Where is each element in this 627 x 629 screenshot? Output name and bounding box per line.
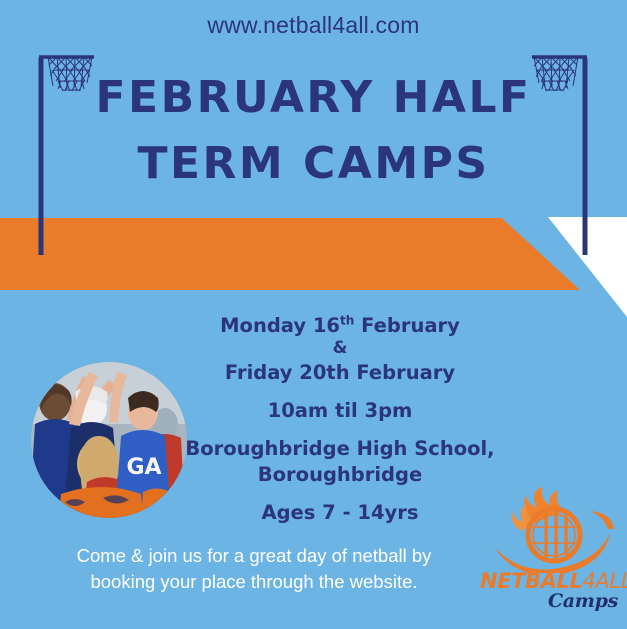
detail-ages: Ages 7 - 14yrs <box>150 500 530 525</box>
blurb-line1: Come & join us for a great day of netbal… <box>44 543 464 569</box>
logo-subtitle: Camps <box>548 590 618 612</box>
page-title-line1: FEBRUARY HALF <box>0 76 627 120</box>
event-details: Monday 16th February & Friday 20th Febru… <box>150 313 530 525</box>
detail-date-1: Monday 16th February <box>150 313 530 338</box>
page-title-line2: TERM CAMPS <box>0 142 627 186</box>
website-url[interactable]: www.netball4all.com <box>0 12 627 39</box>
detail-date-2: Friday 20th February <box>150 360 530 385</box>
netball4all-logo[interactable]: NETBALL4ALL Camps <box>480 487 622 619</box>
detail-date-1-ordinal: th <box>340 314 354 328</box>
detail-date-1-month: February <box>354 314 460 337</box>
flaming-netball-icon <box>488 487 614 573</box>
blurb-line2: booking your place through the website. <box>44 569 464 595</box>
call-to-action-text: Come & join us for a great day of netbal… <box>44 543 464 595</box>
detail-venue-line2: Boroughbridge <box>150 462 530 487</box>
detail-time: 10am til 3pm <box>150 398 530 423</box>
poster-canvas: www.netball4all.com FEBRUARY HALF TERM C… <box>0 0 627 629</box>
detail-venue-line1: Boroughbridge High School, <box>150 436 530 461</box>
detail-conjunction: & <box>150 338 530 359</box>
detail-date-1-text: Monday 16 <box>220 314 340 337</box>
